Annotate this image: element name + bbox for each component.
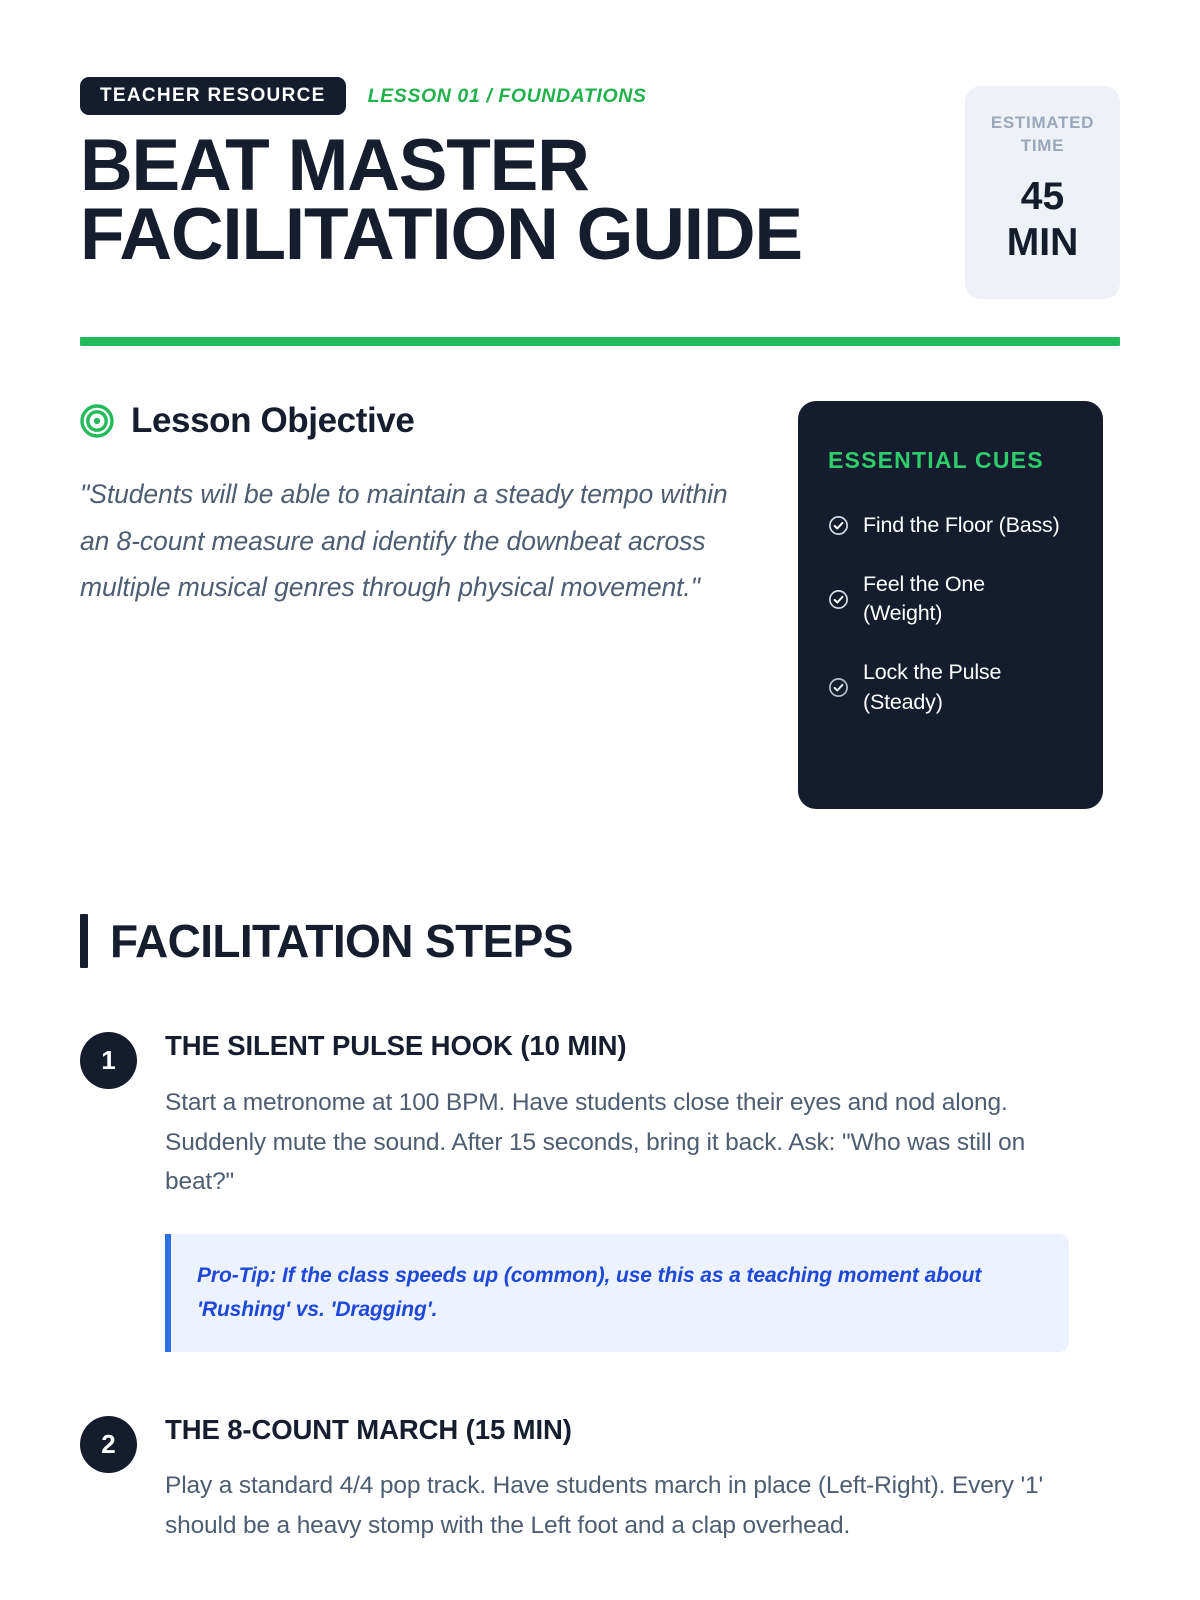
- facilitation-steps-heading: FACILITATION STEPS: [110, 914, 573, 968]
- objective-header: Lesson Objective: [80, 401, 752, 441]
- estimated-time-label-line-1: ESTIMATED: [991, 112, 1094, 135]
- pro-tip-text: Pro-Tip: If the class speeds up (common)…: [197, 1259, 1041, 1325]
- estimated-time-label-line-2: TIME: [991, 135, 1094, 158]
- step-body: THE SILENT PULSE HOOK (10 MIN) Start a m…: [165, 1030, 1069, 1352]
- estimated-time-value: 45: [1021, 174, 1064, 220]
- accent-divider: [80, 337, 1120, 346]
- cue-label: Find the Floor (Bass): [863, 511, 1060, 540]
- cue-label: Feel the One (Weight): [863, 570, 1069, 628]
- list-item: Find the Floor (Bass): [828, 511, 1069, 540]
- essential-cues-card: ESSENTIAL CUES Find the Floor (Bass): [798, 401, 1103, 809]
- cue-label: Lock the Pulse (Steady): [863, 658, 1069, 716]
- check-circle-icon: [828, 589, 849, 610]
- estimated-time-card: ESTIMATED TIME 45 MIN: [965, 86, 1120, 299]
- step-item: 2 THE 8-COUNT MARCH (15 MIN) Play a stan…: [80, 1414, 1120, 1546]
- step-number-badge: 2: [80, 1416, 137, 1473]
- heading-accent-bar: [80, 914, 88, 968]
- page-header: TEACHER RESOURCE LESSON 01 / FOUNDATIONS…: [80, 0, 1120, 299]
- teacher-resource-badge: TEACHER RESOURCE: [80, 77, 346, 115]
- check-circle-icon: [828, 515, 849, 536]
- step-number-badge: 1: [80, 1032, 137, 1089]
- step-text: Start a metronome at 100 BPM. Have stude…: [165, 1083, 1069, 1203]
- essential-cues-list: Find the Floor (Bass) Feel the One (Weig…: [828, 511, 1069, 717]
- header-left: TEACHER RESOURCE LESSON 01 / FOUNDATIONS…: [80, 78, 802, 269]
- estimated-time-label: ESTIMATED TIME: [991, 112, 1094, 158]
- facilitation-steps-list: 1 THE SILENT PULSE HOOK (10 MIN) Start a…: [80, 1030, 1120, 1546]
- target-icon: [80, 404, 114, 438]
- objective-title: Lesson Objective: [131, 401, 414, 441]
- objective-column: Lesson Objective "Students will be able …: [80, 401, 752, 611]
- list-item: Feel the One (Weight): [828, 570, 1069, 628]
- step-title: THE SILENT PULSE HOOK (10 MIN): [165, 1030, 1069, 1062]
- page-title-line-1: BEAT MASTER: [80, 132, 802, 201]
- step-text: Play a standard 4/4 pop track. Have stud…: [165, 1466, 1069, 1546]
- page-title: BEAT MASTER FACILITATION GUIDE: [80, 132, 802, 269]
- essential-cues-title: ESSENTIAL CUES: [828, 445, 1069, 477]
- step-title: THE 8-COUNT MARCH (15 MIN): [165, 1414, 1069, 1446]
- guide-page: TEACHER RESOURCE LESSON 01 / FOUNDATIONS…: [0, 0, 1200, 1546]
- list-item: Lock the Pulse (Steady): [828, 658, 1069, 716]
- lesson-tag: LESSON 01 / FOUNDATIONS: [368, 85, 647, 108]
- step-item: 1 THE SILENT PULSE HOOK (10 MIN) Start a…: [80, 1030, 1120, 1352]
- facilitation-steps-header: FACILITATION STEPS: [80, 914, 1120, 968]
- objective-text: "Students will be able to maintain a ste…: [80, 471, 752, 611]
- estimated-time-unit: MIN: [1007, 220, 1079, 266]
- eyebrow-row: TEACHER RESOURCE LESSON 01 / FOUNDATIONS: [80, 78, 802, 114]
- step-body: THE 8-COUNT MARCH (15 MIN) Play a standa…: [165, 1414, 1069, 1546]
- page-title-line-2: FACILITATION GUIDE: [80, 201, 802, 270]
- check-circle-icon: [828, 677, 849, 698]
- objective-section: Lesson Objective "Students will be able …: [80, 401, 1120, 809]
- pro-tip-callout: Pro-Tip: If the class speeds up (common)…: [165, 1234, 1069, 1351]
